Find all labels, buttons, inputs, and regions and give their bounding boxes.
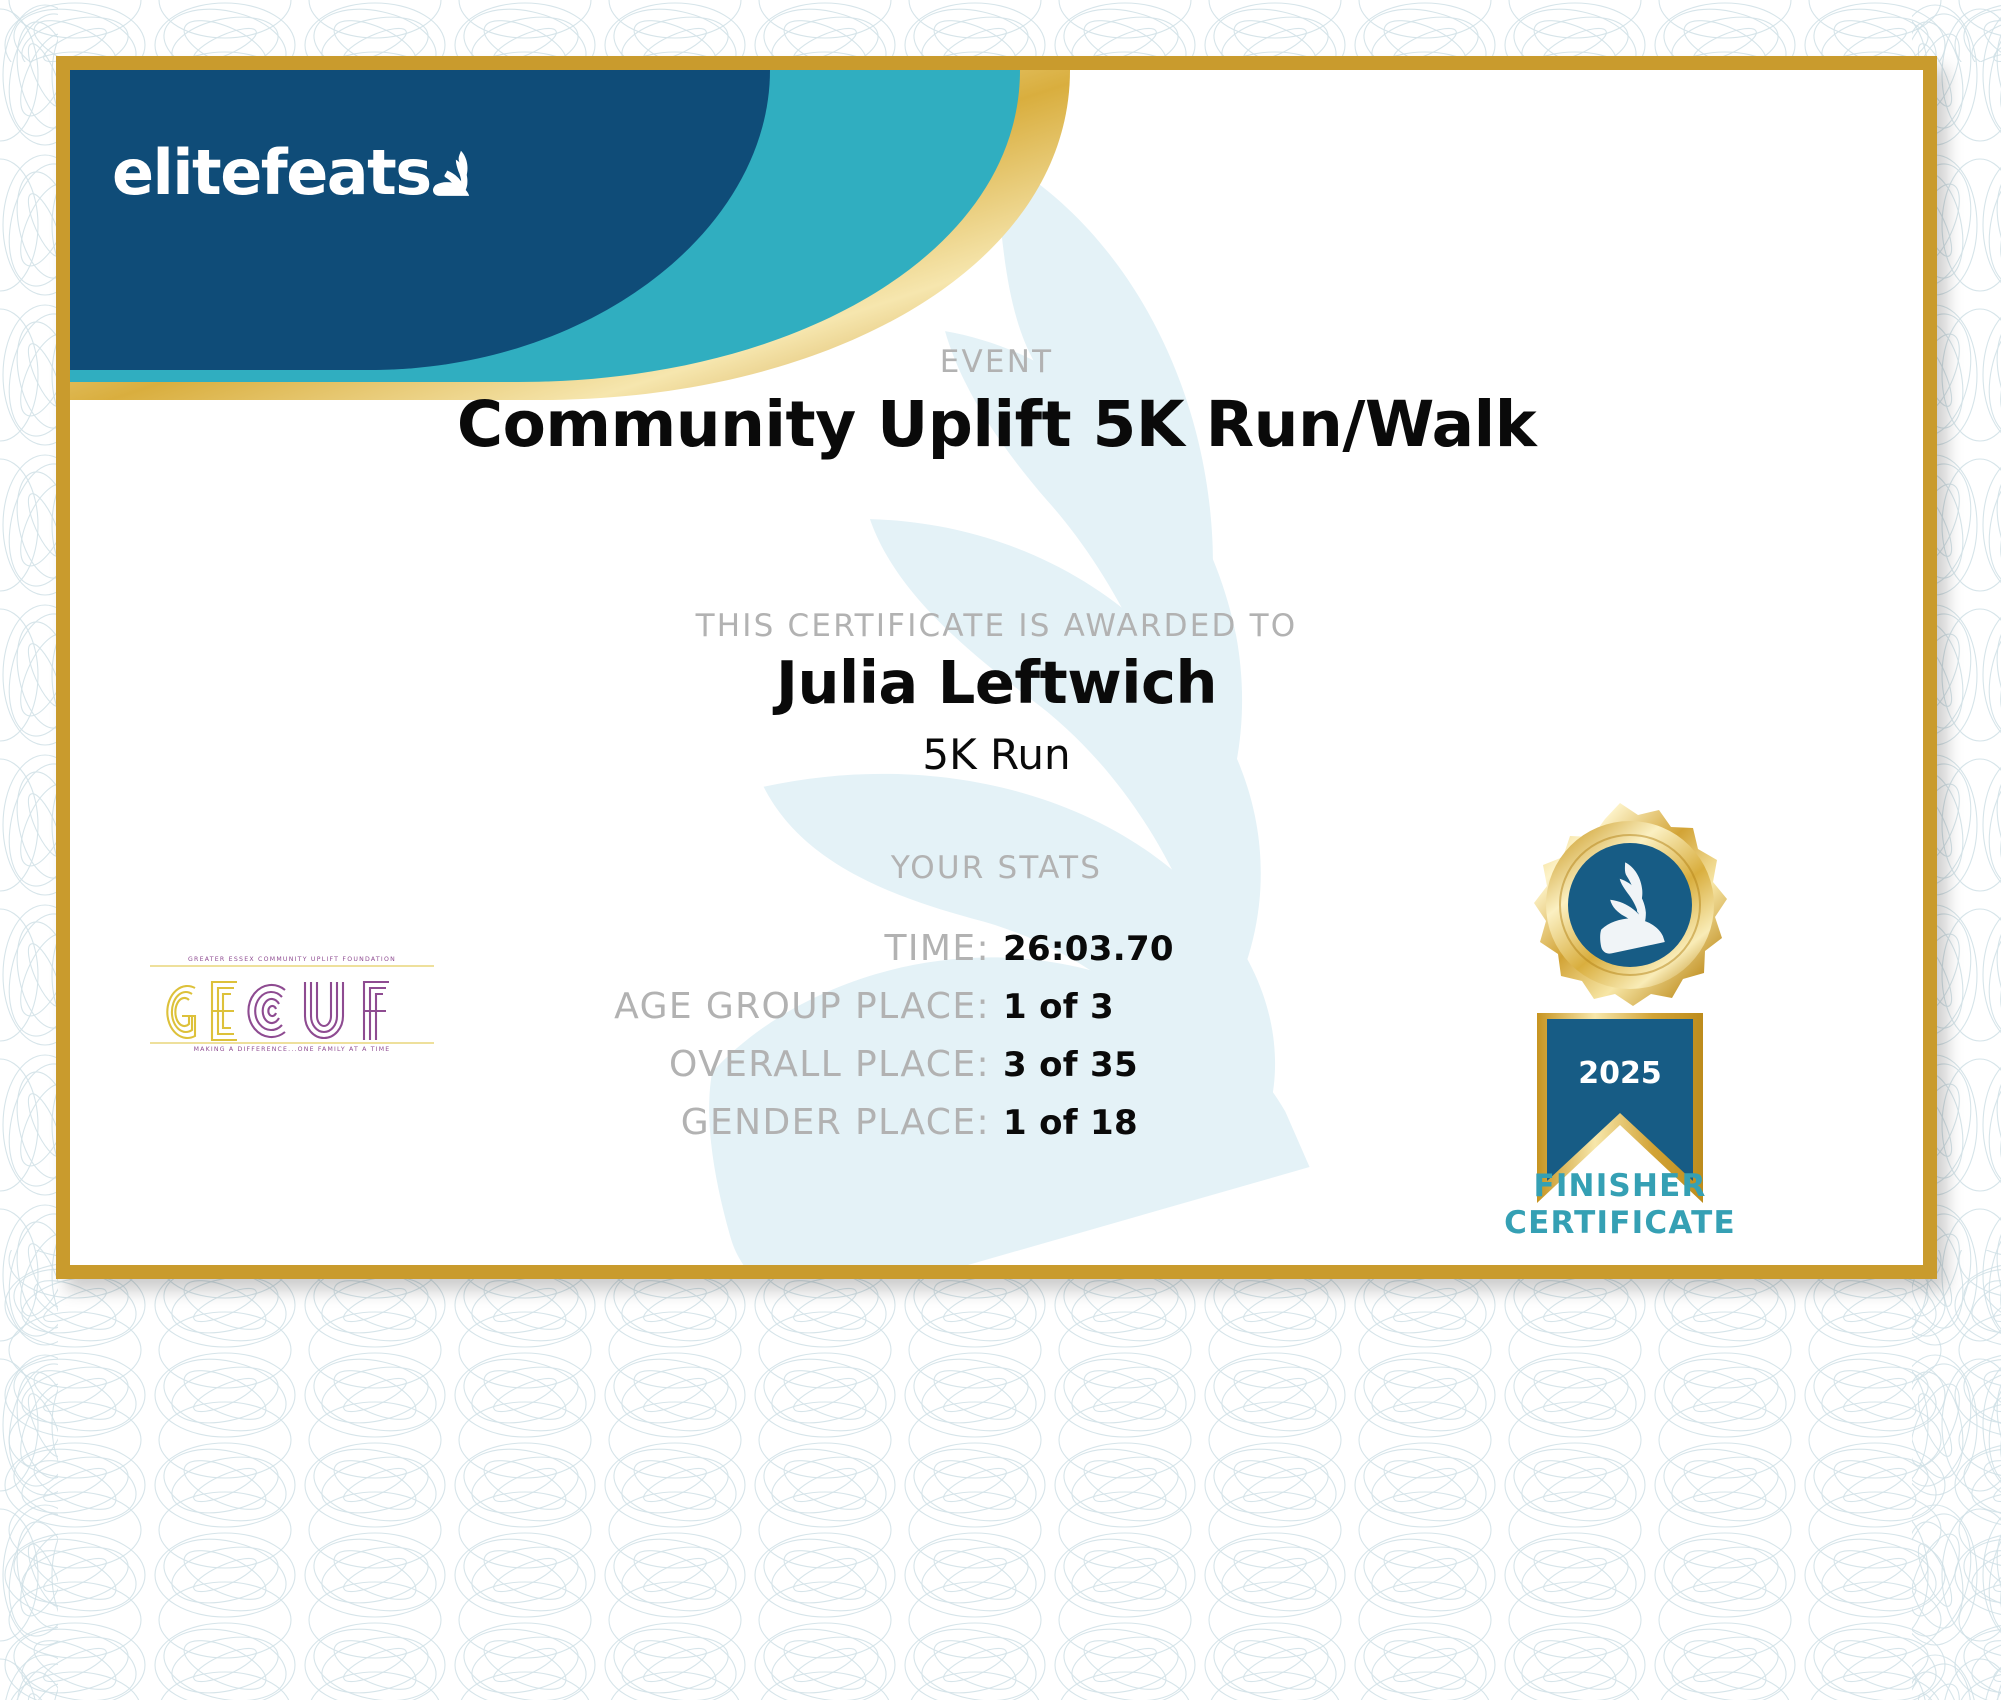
brand-wordmark: elitefeats — [112, 142, 431, 204]
stat-label: TIME: — [520, 928, 990, 969]
sponsor-top-text: GREATER ESSEX COMMUNITY UPLIFT FOUNDATIO… — [188, 956, 396, 963]
stat-value: 1 of 18 — [990, 1103, 1473, 1143]
stat-value: 1 of 3 — [990, 987, 1473, 1027]
stat-label: OVERALL PLACE: — [520, 1044, 990, 1085]
gecuf-sponsor-logo: GREATER ESSEX COMMUNITY UPLIFT FOUNDATIO… — [142, 950, 442, 1055]
stat-label: AGE GROUP PLACE: — [520, 986, 990, 1027]
elitefeats-logo: elitefeats — [112, 118, 472, 228]
event-title: Community Uplift 5K Run/Walk — [70, 388, 1923, 461]
certificate-frame: elitefeats EVENT Community Uplift 5K Run… — [56, 56, 1937, 1279]
stat-label: GENDER PLACE: — [520, 1102, 990, 1143]
badge-caption-line2: CERTIFICATE — [1450, 1205, 1790, 1242]
certificate-page: elitefeats EVENT Community Uplift 5K Run… — [0, 0, 2001, 1700]
winged-foot-icon — [433, 136, 472, 210]
badge-caption: FINISHER CERTIFICATE — [1450, 1168, 1790, 1241]
stat-value: 3 of 35 — [990, 1045, 1473, 1085]
event-label: EVENT — [70, 344, 1923, 380]
awarded-to-label: THIS CERTIFICATE IS AWARDED TO — [70, 608, 1923, 644]
badge-year: 2025 — [1578, 1056, 1662, 1091]
stat-value: 26:03.70 — [990, 929, 1473, 969]
recipient-name: Julia Leftwich — [70, 648, 1923, 717]
badge-caption-line1: FINISHER — [1450, 1168, 1790, 1205]
medallion — [1534, 803, 1727, 1006]
sponsor-tagline: MAKING A DIFFERENCE...ONE FAMILY AT A TI… — [194, 1046, 391, 1053]
recipient-division: 5K Run — [70, 730, 1923, 779]
